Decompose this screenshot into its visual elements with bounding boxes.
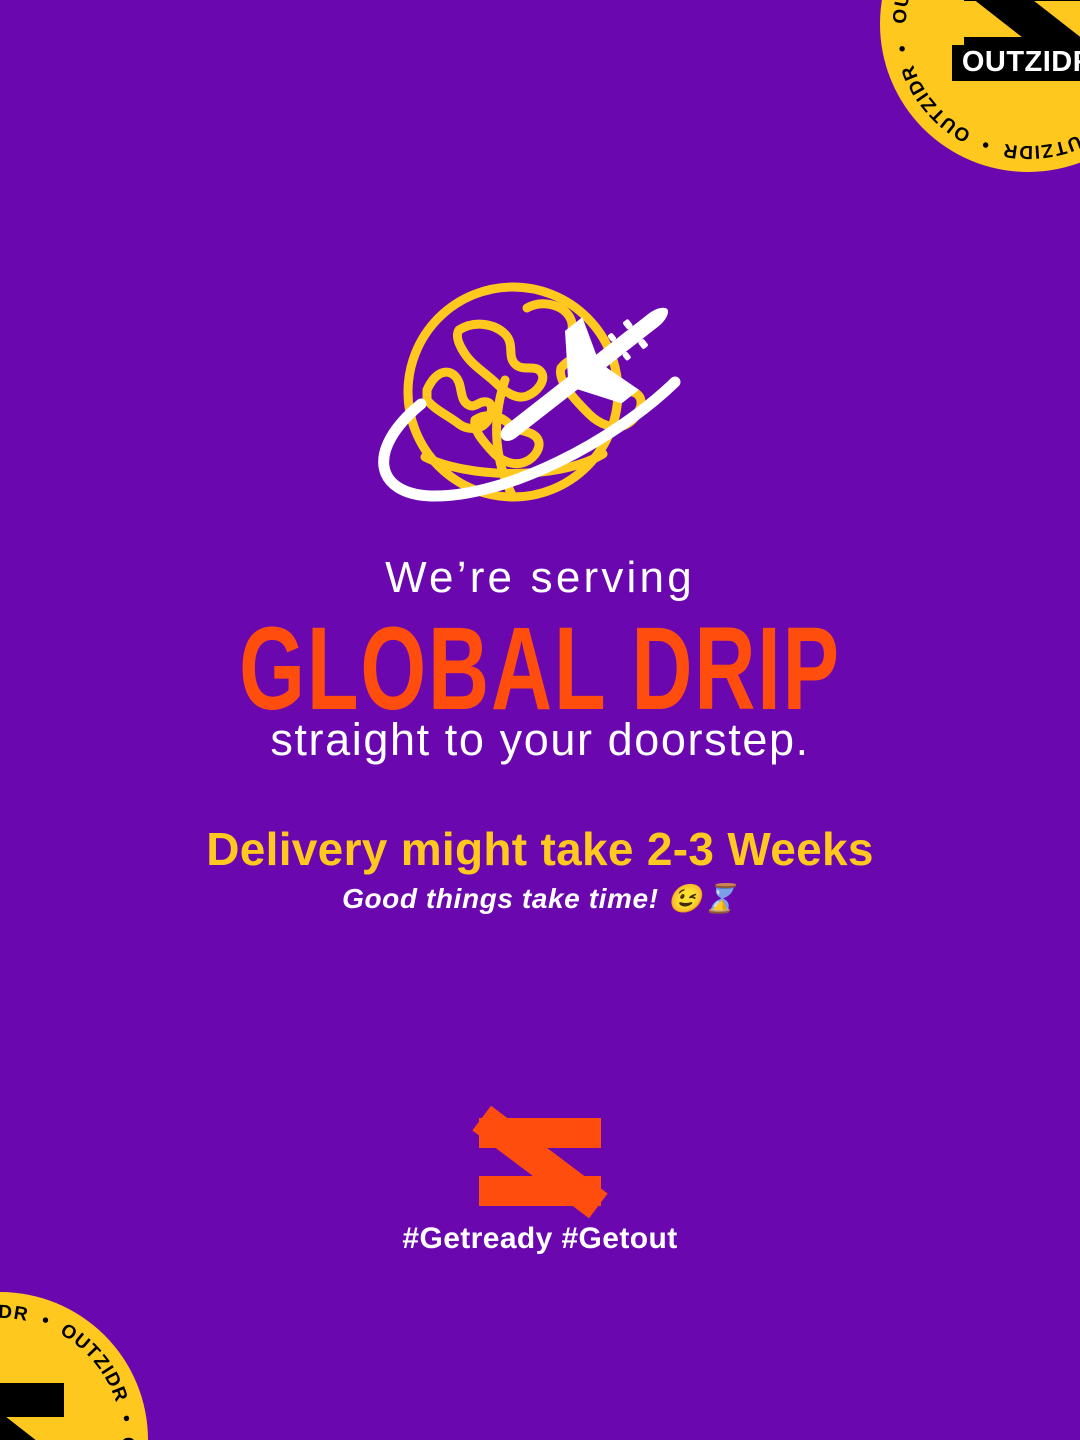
badge-core-bottom-left: OUTZIDR xyxy=(0,1383,86,1440)
delivery-notice-text: Delivery might take 2-3 Weeks xyxy=(0,823,1080,876)
footer-block: #Getready #Getout xyxy=(0,1118,1080,1256)
headline-pre-text: We’re serving xyxy=(0,553,1080,604)
globe-airplane-illustration xyxy=(355,272,725,522)
badge-ring-chunk: OUTZIDR xyxy=(87,1437,138,1440)
badge-ring-chunk: OUTZIDR xyxy=(890,0,944,24)
badge-ring-chunk: OUTZIDR xyxy=(0,1302,30,1339)
footer-z-logo-icon xyxy=(479,1118,601,1206)
badge-core-top-right: OUTZIDR xyxy=(942,0,1080,81)
badge-wordmark: OUTZIDR xyxy=(952,45,1080,81)
brand-badge-top-right: OUTZIDR • OUTZIDR • OUTZIDR • OUTZIDR • … xyxy=(880,0,1080,172)
headline-post-text: straight to your doorstep. xyxy=(0,714,1080,766)
z-logo-icon xyxy=(0,1383,64,1440)
delivery-subnote-text: Good things take time! 😉⌛ xyxy=(0,882,1080,916)
badge-ring-chunk: OUTZIDR xyxy=(1001,123,1080,162)
headline-main-text: GLOBAL DRIP xyxy=(0,608,1080,705)
brand-badge-bottom-left: OUTZIDR • OUTZIDR • OUTZIDR • OUTZIDR • … xyxy=(0,1292,148,1440)
poster-canvas: OUTZIDR • OUTZIDR • OUTZIDR • OUTZIDR • … xyxy=(0,0,1080,1440)
footer-hashtags-text: #Getready #Getout xyxy=(402,1222,677,1256)
